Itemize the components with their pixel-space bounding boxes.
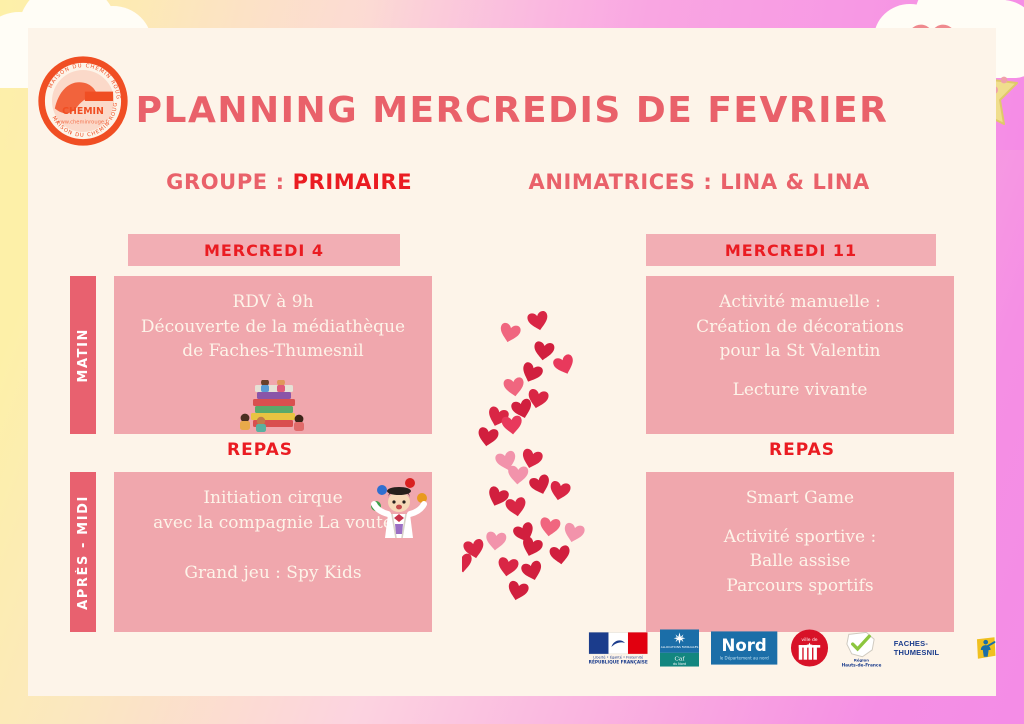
slot-tab-apres-midi-label: APRÈS - MIDI xyxy=(76,495,91,610)
slot-tab-matin: MATIN xyxy=(70,276,96,434)
stack-of-books-with-children-icon xyxy=(235,380,311,432)
animators-label: ANIMATRICES : xyxy=(528,170,712,194)
activity-panel-morning-mercredi-4: RDV à 9h Découverte de la médiathèque de… xyxy=(114,276,432,434)
activity-panel-afternoon-mercredi-11: Smart Game Activité sportive : Balle ass… xyxy=(646,472,954,632)
meal-label-mercredi-4: REPAS xyxy=(114,434,406,462)
morning-slot-mercredi-11: Activité manuelle : Création de décorati… xyxy=(646,276,954,434)
activity-line: RDV à 9h xyxy=(126,290,420,315)
hdf-name: Hauts-de-France xyxy=(841,663,881,668)
lille-prefix: ville de xyxy=(801,637,817,643)
group-subheading: GROUPE : PRIMAIRE xyxy=(166,170,412,194)
afternoon-slot-mercredi-4: APRÈS - MIDI Initiation cirque avec la c… xyxy=(70,472,460,632)
group-value: PRIMAIRE xyxy=(293,170,413,194)
morning-slot-mercredi-4: MATIN RDV à 9h Découverte de la médiathè… xyxy=(70,276,460,434)
subheadings: GROUPE : PRIMAIRE ANIMATRICES : LINA & L… xyxy=(108,170,928,194)
svg-text:ALLOCATIONS FAMILIALES: ALLOCATIONS FAMILIALES xyxy=(661,645,699,649)
faches-thumesnil-label: FACHES-THUMESNIL xyxy=(894,639,972,657)
planning-card: CHEMIN www.cheminrouge.fr MAISON DU CHEM… xyxy=(28,28,996,696)
nord-departement-logo: Nord le Département au nord xyxy=(711,631,777,665)
juggler-icon xyxy=(370,478,428,540)
activity-line: Découverte de la médiathèque xyxy=(126,315,420,340)
activity-line: Smart Game xyxy=(658,486,942,511)
day-heading-mercredi-11: MERCREDI 11 xyxy=(646,234,936,266)
activity-line: de Faches-Thumesnil xyxy=(126,339,420,364)
faches-thumesnil-logo: FACHES-THUMESNIL xyxy=(894,635,996,661)
day-column-mercredi-11: MERCREDI 11 Activité manuelle : Création… xyxy=(624,234,954,624)
activity-line: Activité sportive : xyxy=(658,525,942,550)
ville-de-lille-logo: ville de xyxy=(790,628,829,668)
partner-logos: Liberté • Égalité • Fraternité RÉPUBLIQU… xyxy=(588,628,996,668)
day-heading-mercredi-4: MERCREDI 4 xyxy=(128,234,400,266)
activity-panel-morning-mercredi-11: Activité manuelle : Création de décorati… xyxy=(646,276,954,434)
activity-line: Création de décorations xyxy=(658,315,942,340)
caf-du-nord-logo: ALLOCATIONS FAMILIALES Caf du Nord xyxy=(660,629,699,667)
activity-line: Lecture vivante xyxy=(658,378,942,403)
activity-panel-afternoon-mercredi-4: Initiation cirque avec la compagnie La v… xyxy=(114,472,432,632)
animators-value: LINA & LINA xyxy=(720,170,870,194)
activity-line: Grand jeu : Spy Kids xyxy=(126,561,420,586)
hauts-de-france-logo: Région Hauts-de-France xyxy=(841,628,882,668)
animators-subheading: ANIMATRICES : LINA & LINA xyxy=(528,170,869,194)
rf-motto: Liberté • Égalité • Fraternité xyxy=(593,655,643,660)
activity-line: pour la St Valentin xyxy=(658,339,942,364)
activity-line: Activité manuelle : xyxy=(658,290,942,315)
hdf-region: Région xyxy=(854,658,869,663)
faches-thumesnil-mark xyxy=(975,635,996,661)
caf-region: du Nord xyxy=(673,662,686,666)
slot-tab-apres-midi: APRÈS - MIDI xyxy=(70,472,96,632)
planning-grid: MERCREDI 4 MATIN RDV à 9h Découverte de … xyxy=(70,234,954,624)
nord-name: Nord xyxy=(722,636,767,655)
activity-line: Parcours sportifs xyxy=(658,574,942,599)
slot-tab-matin-label: MATIN xyxy=(76,328,91,383)
day-column-mercredi-4: MERCREDI 4 MATIN RDV à 9h Découverte de … xyxy=(70,234,460,624)
republique-francaise-logo: Liberté • Égalité • Fraternité RÉPUBLIQU… xyxy=(588,631,648,665)
group-label: GROUPE : xyxy=(166,170,285,194)
meal-label-mercredi-11: REPAS xyxy=(646,434,958,462)
nord-tagline: le Département au nord xyxy=(720,656,769,661)
activity-line: Balle assise xyxy=(658,549,942,574)
page-title: PLANNING MERCREDIS DE FEVRIER xyxy=(28,90,996,131)
afternoon-slot-mercredi-11: Smart Game Activité sportive : Balle ass… xyxy=(646,472,954,632)
